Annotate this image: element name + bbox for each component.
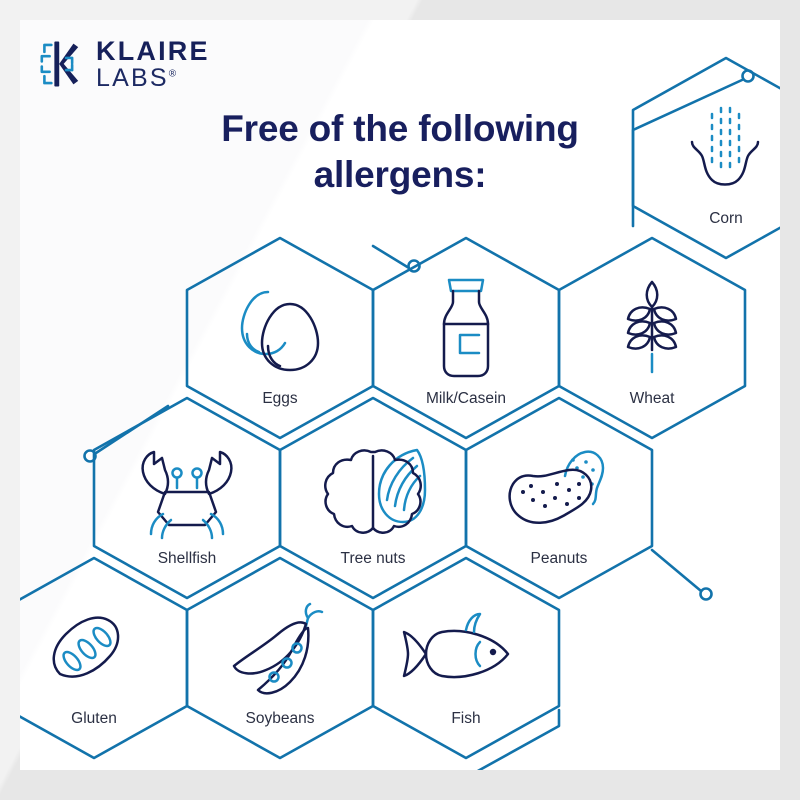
tree-nuts-icon [325, 450, 425, 533]
cell-label-eggs: Eggs [262, 390, 298, 407]
hex-cell-soybeans[interactable]: Soybeans [187, 558, 373, 758]
milk-bottle-icon [444, 280, 488, 376]
hex-cell-tree-nuts[interactable]: Tree nuts [280, 398, 466, 598]
peanut-icon [510, 452, 603, 523]
corn-icon [692, 108, 758, 185]
infographic-card: KLAIRE LABS® Free of the following aller… [20, 20, 780, 770]
cell-label-soybeans: Soybeans [246, 710, 315, 727]
hex-cell-shellfish[interactable]: Shellfish [94, 398, 280, 598]
hex-cell-eggs[interactable]: Eggs [187, 238, 373, 438]
bread-icon [54, 618, 118, 677]
connector-node-right-lower [701, 589, 712, 600]
infographic-stage: KLAIRE LABS® Free of the following aller… [0, 0, 800, 800]
hex-cell-peanuts[interactable]: Peanuts [466, 398, 652, 598]
honeycomb-diagram: Corn Eggs [20, 20, 780, 770]
hex-cell-corn[interactable]: Corn [633, 58, 780, 258]
cell-label-milk-casein: Milk/Casein [426, 390, 506, 407]
hex-cell-fish[interactable]: Fish [373, 558, 559, 758]
hex-cell-milk-casein[interactable]: Milk/Casein [373, 238, 559, 438]
cell-label-peanuts: Peanuts [531, 550, 588, 567]
connector-top-right [633, 71, 754, 227]
cell-label-corn: Corn [709, 210, 743, 227]
cell-label-gluten: Gluten [71, 710, 117, 727]
eggs-icon [242, 292, 318, 370]
hex-cell-wheat[interactable]: Wheat [559, 238, 745, 438]
cell-label-fish: Fish [451, 710, 480, 727]
cell-label-tree-nuts: Tree nuts [341, 550, 406, 567]
hex-cell-gluten[interactable]: Gluten [20, 558, 187, 758]
cell-label-wheat: Wheat [630, 390, 675, 407]
crab-icon [143, 452, 232, 538]
wheat-icon [628, 282, 676, 372]
soybean-pod-icon [234, 604, 322, 693]
cell-label-shellfish: Shellfish [158, 550, 217, 567]
fish-icon [404, 614, 508, 677]
connector-right-lower [652, 550, 712, 600]
